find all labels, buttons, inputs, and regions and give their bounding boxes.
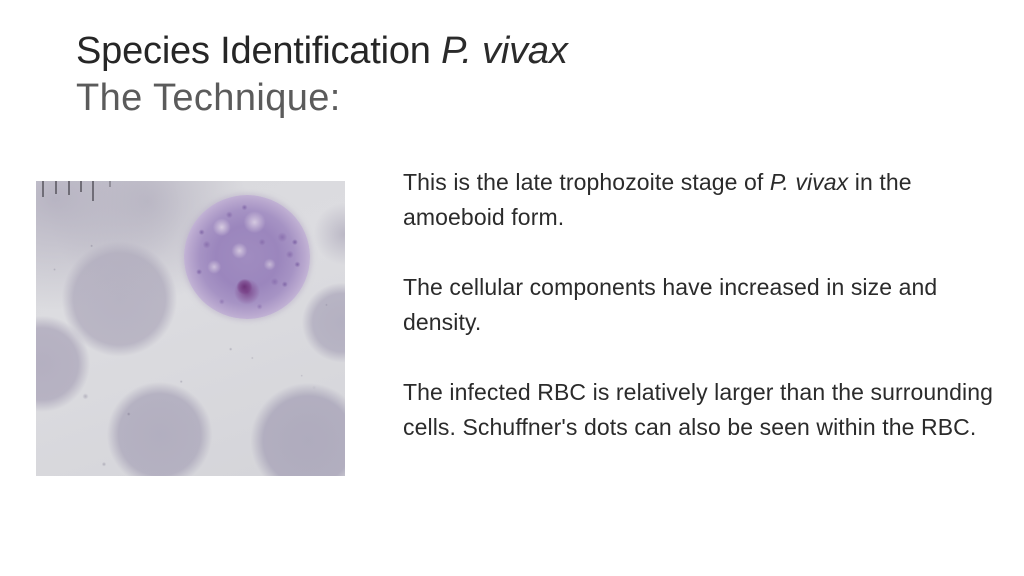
paragraph-1: This is the late trophozoite stage of P.…	[403, 165, 1003, 235]
page-title-species-italic: P. vivax	[441, 30, 568, 72]
schuffners-dots	[184, 195, 310, 319]
slide-title-block: Species Identification P. vivax The Tech…	[76, 28, 976, 122]
page-title: Species Identification P. vivax	[76, 28, 976, 74]
page-subtitle: The Technique:	[76, 74, 976, 122]
paragraph-2: The cellular components have increased i…	[403, 270, 1003, 340]
infected-red-blood-cell	[184, 195, 310, 319]
reticle-scale-ticks	[42, 181, 122, 207]
page-title-plain: Species Identification	[76, 30, 441, 72]
blood-smear-field	[36, 181, 345, 476]
body-text-block: This is the late trophozoite stage of P.…	[403, 165, 1003, 445]
paragraph-1-part-1: This is the late trophozoite stage of	[403, 169, 770, 195]
paragraph-1-species-italic: P. vivax	[770, 169, 848, 195]
micrograph-image	[36, 181, 345, 476]
paragraph-3: The infected RBC is relatively larger th…	[403, 375, 1003, 445]
